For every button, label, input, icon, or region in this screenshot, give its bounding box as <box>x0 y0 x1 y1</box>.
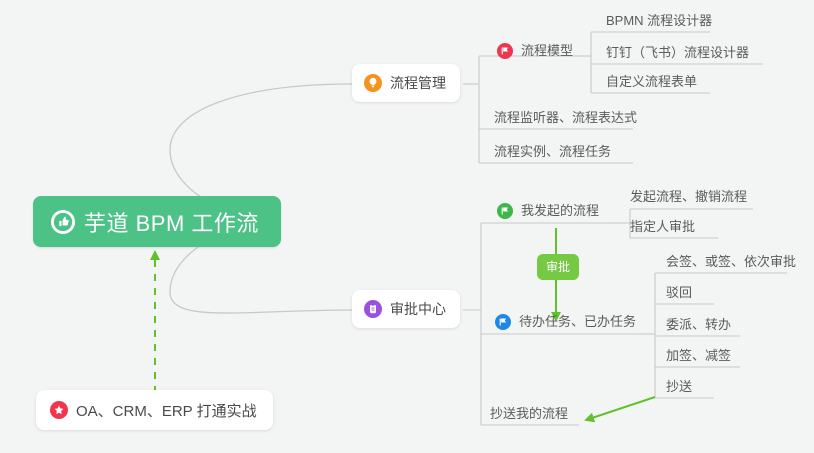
node-reject[interactable]: 驳回 <box>666 285 692 306</box>
flag-icon <box>495 314 511 330</box>
node-cc-label: 抄送 <box>666 379 692 395</box>
lightbulb-icon <box>364 74 382 92</box>
node-process-model-label: 流程模型 <box>521 43 573 59</box>
node-custom-process-form[interactable]: 自定义流程表单 <box>606 74 697 95</box>
node-counter-or-sequential-sign-label: 会签、或签、依次审批 <box>666 254 796 270</box>
node-delegate-transfer-label: 委派、转办 <box>666 317 731 333</box>
branch-process-management[interactable]: 流程管理 <box>352 64 460 102</box>
branch-process-management-label: 流程管理 <box>390 73 446 93</box>
node-cc[interactable]: 抄送 <box>666 379 692 400</box>
node-bpmn-designer[interactable]: BPMN 流程设计器 <box>606 13 712 34</box>
cc-to-ccme-arrow <box>586 397 655 420</box>
node-cc-to-me-processes[interactable]: 抄送我的流程 <box>490 406 568 427</box>
node-add-remove-sign[interactable]: 加签、减签 <box>666 348 731 369</box>
node-custom-process-form-label: 自定义流程表单 <box>606 74 697 90</box>
thumbs-up-icon <box>51 210 75 234</box>
node-dingtalk-feishu-designer-label: 钉钉（飞书）流程设计器 <box>606 45 749 61</box>
node-my-started-processes[interactable]: 我发起的流程 <box>497 203 599 224</box>
node-process-model[interactable]: 流程模型 <box>497 43 573 64</box>
node-todo-done-tasks-label: 待办任务、已办任务 <box>519 314 636 330</box>
node-assignee-approval[interactable]: 指定人审批 <box>630 219 695 240</box>
root-node[interactable]: 芋道 BPM 工作流 <box>33 196 281 247</box>
node-delegate-transfer[interactable]: 委派、转办 <box>666 317 731 338</box>
branch-approval-center-label: 审批中心 <box>390 299 446 319</box>
clipboard-icon <box>364 300 382 318</box>
node-process-instance-task[interactable]: 流程实例、流程任务 <box>494 144 611 165</box>
approval-badge[interactable]: 审批 <box>537 254 579 280</box>
node-integration-practice-label: OA、CRM、ERP 打通实战 <box>76 400 257 421</box>
approval-badge-label: 审批 <box>546 260 570 274</box>
node-dingtalk-feishu-designer[interactable]: 钉钉（飞书）流程设计器 <box>606 45 749 66</box>
node-reject-label: 驳回 <box>666 285 692 301</box>
branch-approval-center[interactable]: 审批中心 <box>352 290 460 328</box>
node-start-cancel-process-label: 发起流程、撤销流程 <box>630 189 747 205</box>
node-process-instance-task-label: 流程实例、流程任务 <box>494 144 611 160</box>
flag-icon <box>497 203 513 219</box>
node-bpmn-designer-label: BPMN 流程设计器 <box>606 13 712 29</box>
flag-icon <box>497 43 513 59</box>
root-label: 芋道 BPM 工作流 <box>84 206 259 238</box>
node-assignee-approval-label: 指定人审批 <box>630 219 695 235</box>
node-counter-or-sequential-sign[interactable]: 会签、或签、依次审批 <box>666 254 796 275</box>
node-process-listener-expression-label: 流程监听器、流程表达式 <box>494 110 637 126</box>
node-cc-to-me-processes-label: 抄送我的流程 <box>490 406 568 422</box>
star-icon <box>50 401 68 419</box>
node-add-remove-sign-label: 加签、减签 <box>666 348 731 364</box>
node-process-listener-expression[interactable]: 流程监听器、流程表达式 <box>494 110 637 131</box>
node-my-started-processes-label: 我发起的流程 <box>521 203 599 219</box>
mindmap-canvas: 芋道 BPM 工作流 流程管理 流程模型 BPMN 流程设计器 钉钉（飞书）流程… <box>0 0 814 453</box>
node-todo-done-tasks[interactable]: 待办任务、已办任务 <box>495 314 636 335</box>
node-integration-practice[interactable]: OA、CRM、ERP 打通实战 <box>36 390 273 430</box>
node-start-cancel-process[interactable]: 发起流程、撤销流程 <box>630 189 747 210</box>
